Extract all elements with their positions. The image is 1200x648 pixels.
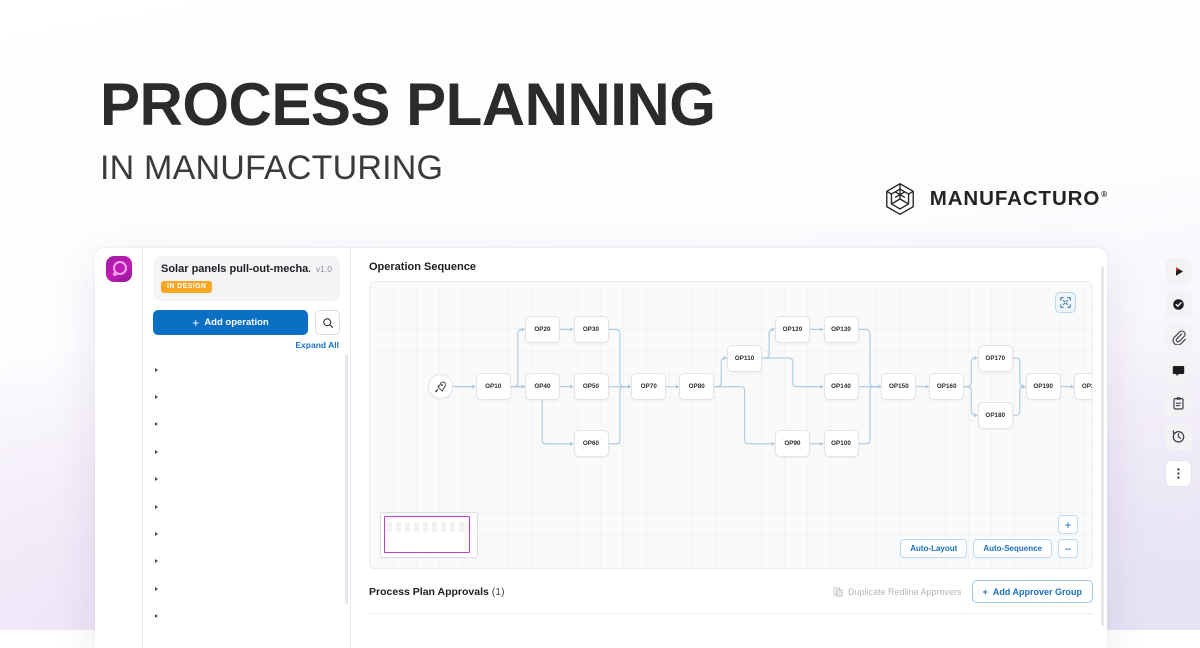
flow-node-op90[interactable]: OP90 — [775, 430, 810, 457]
sidebar-operation-row[interactable] — [153, 356, 340, 383]
flow-edge-op10-to-op20 — [511, 329, 522, 386]
zoom-controls: + − — [1058, 515, 1078, 558]
sidebar-operation-row[interactable] — [153, 466, 340, 493]
plus-icon: + — [983, 587, 988, 597]
headline-block: PROCESS PLANNING IN MANUFACTURING — [100, 74, 715, 188]
flow-node-op140[interactable]: OP140 — [824, 373, 859, 400]
tool-history[interactable] — [1165, 423, 1192, 450]
flow-node-op130[interactable]: OP130 — [824, 316, 859, 343]
approvals-title: Process Plan Approvals (1) — [369, 586, 505, 598]
add-operation-button[interactable]: + Add operation — [153, 310, 308, 335]
app-window: Solar panels pull-out-mecha... v1.0 IN D… — [95, 248, 1107, 648]
page-title: PROCESS PLANNING — [100, 74, 715, 135]
plan-version: v1.0 — [316, 264, 332, 274]
tool-notes[interactable] — [1165, 390, 1192, 417]
auto-sequence-button[interactable]: Auto-Sequence — [973, 539, 1052, 558]
approvals-count: (1) — [492, 586, 505, 598]
flow-edge-op80-to-op90 — [714, 387, 772, 444]
chevron-right-icon[interactable] — [155, 395, 158, 399]
flow-arrowhead — [570, 385, 573, 389]
add-approver-label: Add Approver Group — [993, 587, 1082, 597]
sidebar-operation-row[interactable] — [153, 520, 340, 547]
operations-sidebar: Solar panels pull-out-mecha... v1.0 IN D… — [143, 248, 351, 648]
flow-edge-op130-to-op150 — [859, 329, 879, 386]
chevron-right-icon[interactable] — [155, 368, 158, 372]
flow-edge-op30-to-op70 — [609, 329, 629, 386]
duplicate-redline-label: Duplicate Redline Approvers — [848, 587, 962, 597]
status-badge: IN DESIGN — [161, 281, 212, 293]
fit-to-screen-icon — [1060, 297, 1071, 308]
plan-title: Solar panels pull-out-mecha... — [161, 263, 310, 275]
sidebar-actions: + Add operation — [153, 310, 340, 335]
flow-node-op60[interactable]: OP60 — [574, 430, 609, 457]
process-plan-card[interactable]: Solar panels pull-out-mecha... v1.0 IN D… — [153, 256, 340, 301]
brand-name: MANUFACTURO® — [930, 187, 1108, 211]
flow-node-op150[interactable]: OP150 — [881, 373, 916, 400]
flow-edge-op60-to-op70 — [609, 387, 629, 444]
flow-edge-op110-to-op120 — [762, 329, 773, 358]
brand-lockup: MANUFACTURO® — [882, 181, 1108, 217]
right-toolbar — [1165, 258, 1192, 487]
sidebar-operation-row[interactable] — [153, 383, 340, 410]
chevron-right-icon[interactable] — [155, 532, 158, 536]
approvals-bar: Process Plan Approvals (1) Duplicate Red… — [351, 580, 1107, 603]
flow-edge-op180-to-op190 — [1013, 387, 1024, 416]
flow-node-op160[interactable]: OP160 — [929, 373, 964, 400]
sidebar-operation-row[interactable] — [153, 575, 340, 602]
more-vertical-icon — [1171, 466, 1186, 481]
flow-node-op20[interactable]: OP20 — [525, 316, 560, 343]
chevron-right-icon[interactable] — [155, 422, 158, 426]
comment-icon — [1171, 363, 1186, 378]
flow-arrowhead — [570, 327, 573, 331]
manufacturo-app-icon[interactable] — [106, 256, 132, 282]
plus-icon: + — [192, 317, 199, 329]
sidebar-operation-row[interactable] — [153, 411, 340, 438]
approvals-title-text: Process Plan Approvals — [369, 586, 489, 598]
flow-node-op110[interactable]: OP110 — [727, 345, 762, 372]
flow-node-op10[interactable]: OP10 — [476, 373, 511, 400]
chevron-right-icon[interactable] — [155, 559, 158, 563]
canvas-wrapper: Auto-Layout Auto-Sequence + − OP10OP20OP… — [351, 281, 1107, 569]
hexagon-cube-logo-icon — [882, 181, 918, 217]
duplicate-redline-approvers-button: Duplicate Redline Approvers — [833, 587, 962, 597]
flow-node-op190[interactable]: OP190 — [1026, 373, 1061, 400]
sidebar-operation-row[interactable] — [153, 603, 340, 630]
divider — [369, 613, 1093, 614]
flow-node-op80[interactable]: OP80 — [679, 373, 714, 400]
operation-sequence-canvas[interactable]: Auto-Layout Auto-Sequence + − OP10OP20OP… — [369, 281, 1093, 569]
tool-approve[interactable] — [1165, 291, 1192, 318]
expand-all-link[interactable]: Expand All — [295, 340, 339, 350]
chevron-right-icon[interactable] — [155, 450, 158, 454]
canvas-controls: Auto-Layout Auto-Sequence + − — [900, 515, 1078, 558]
flow-node-op120[interactable]: OP120 — [775, 316, 810, 343]
flow-node-op70[interactable]: OP70 — [631, 373, 666, 400]
flow-node-op170[interactable]: OP170 — [978, 345, 1013, 372]
tool-more[interactable] — [1165, 460, 1192, 487]
sidebar-operation-row[interactable] — [153, 548, 340, 575]
add-operation-label: Add operation — [204, 317, 268, 328]
play-triangle-icon — [1171, 264, 1186, 279]
flow-node-op50[interactable]: OP50 — [574, 373, 609, 400]
canvas-minimap[interactable] — [380, 512, 478, 558]
flow-node-op200[interactable]: OP200 — [1074, 373, 1093, 400]
main-scrollbar[interactable] — [1101, 266, 1105, 626]
flow-edge-op160-to-op170 — [964, 358, 975, 387]
chevron-right-icon[interactable] — [155, 477, 158, 481]
app-left-rail — [95, 248, 143, 648]
sidebar-operation-row[interactable] — [153, 493, 340, 520]
tool-run[interactable] — [1165, 258, 1192, 285]
plan-title-row: Solar panels pull-out-mecha... v1.0 — [161, 263, 332, 275]
zoom-out-button[interactable]: − — [1058, 539, 1078, 558]
minimap-viewport-rect[interactable] — [384, 516, 470, 553]
search-icon — [322, 317, 334, 329]
flow-node-op30[interactable]: OP30 — [574, 316, 609, 343]
copy-icon — [833, 587, 843, 597]
start-node[interactable] — [428, 374, 453, 399]
chevron-right-icon[interactable] — [155, 587, 158, 591]
chevron-right-icon[interactable] — [155, 505, 158, 509]
flow-node-op100[interactable]: OP100 — [824, 430, 859, 457]
check-circle-icon — [1171, 297, 1186, 312]
search-button[interactable] — [315, 310, 340, 335]
operations-list — [153, 356, 340, 648]
brand-trademark: ® — [1101, 190, 1108, 199]
sidebar-operation-row[interactable] — [153, 438, 340, 465]
page-subtitle: IN MANUFACTURING — [100, 149, 715, 188]
tool-comments[interactable] — [1165, 357, 1192, 384]
main-panel: Operation Sequence — [351, 248, 1107, 648]
history-clock-icon — [1171, 429, 1186, 444]
fit-to-screen-button[interactable] — [1055, 292, 1076, 313]
add-approver-group-button[interactable]: + Add Approver Group — [972, 580, 1093, 603]
rocket-launch-icon — [434, 381, 446, 393]
sidebar-scrollbar[interactable] — [345, 354, 348, 604]
zoom-in-button[interactable]: + — [1058, 515, 1078, 534]
flow-node-op180[interactable]: OP180 — [978, 402, 1013, 429]
flow-edge-op110-to-op140 — [762, 358, 820, 387]
operation-sequence-title: Operation Sequence — [351, 248, 1107, 281]
clipboard-icon — [1171, 396, 1186, 411]
flow-edge-op100-to-op150 — [859, 387, 879, 444]
tool-attachments[interactable] — [1165, 324, 1192, 351]
flow-arrowhead — [570, 442, 573, 446]
flow-node-op40[interactable]: OP40 — [525, 373, 560, 400]
flow-edge-op170-to-op190 — [1013, 358, 1024, 387]
paperclip-icon — [1171, 330, 1186, 345]
chevron-right-icon[interactable] — [155, 614, 158, 618]
flow-edge-op80-to-op110 — [714, 358, 725, 387]
auto-layout-button[interactable]: Auto-Layout — [900, 539, 967, 558]
brand-name-text: MANUFACTURO — [930, 187, 1100, 210]
flow-edge-op160-to-op180 — [964, 387, 975, 416]
